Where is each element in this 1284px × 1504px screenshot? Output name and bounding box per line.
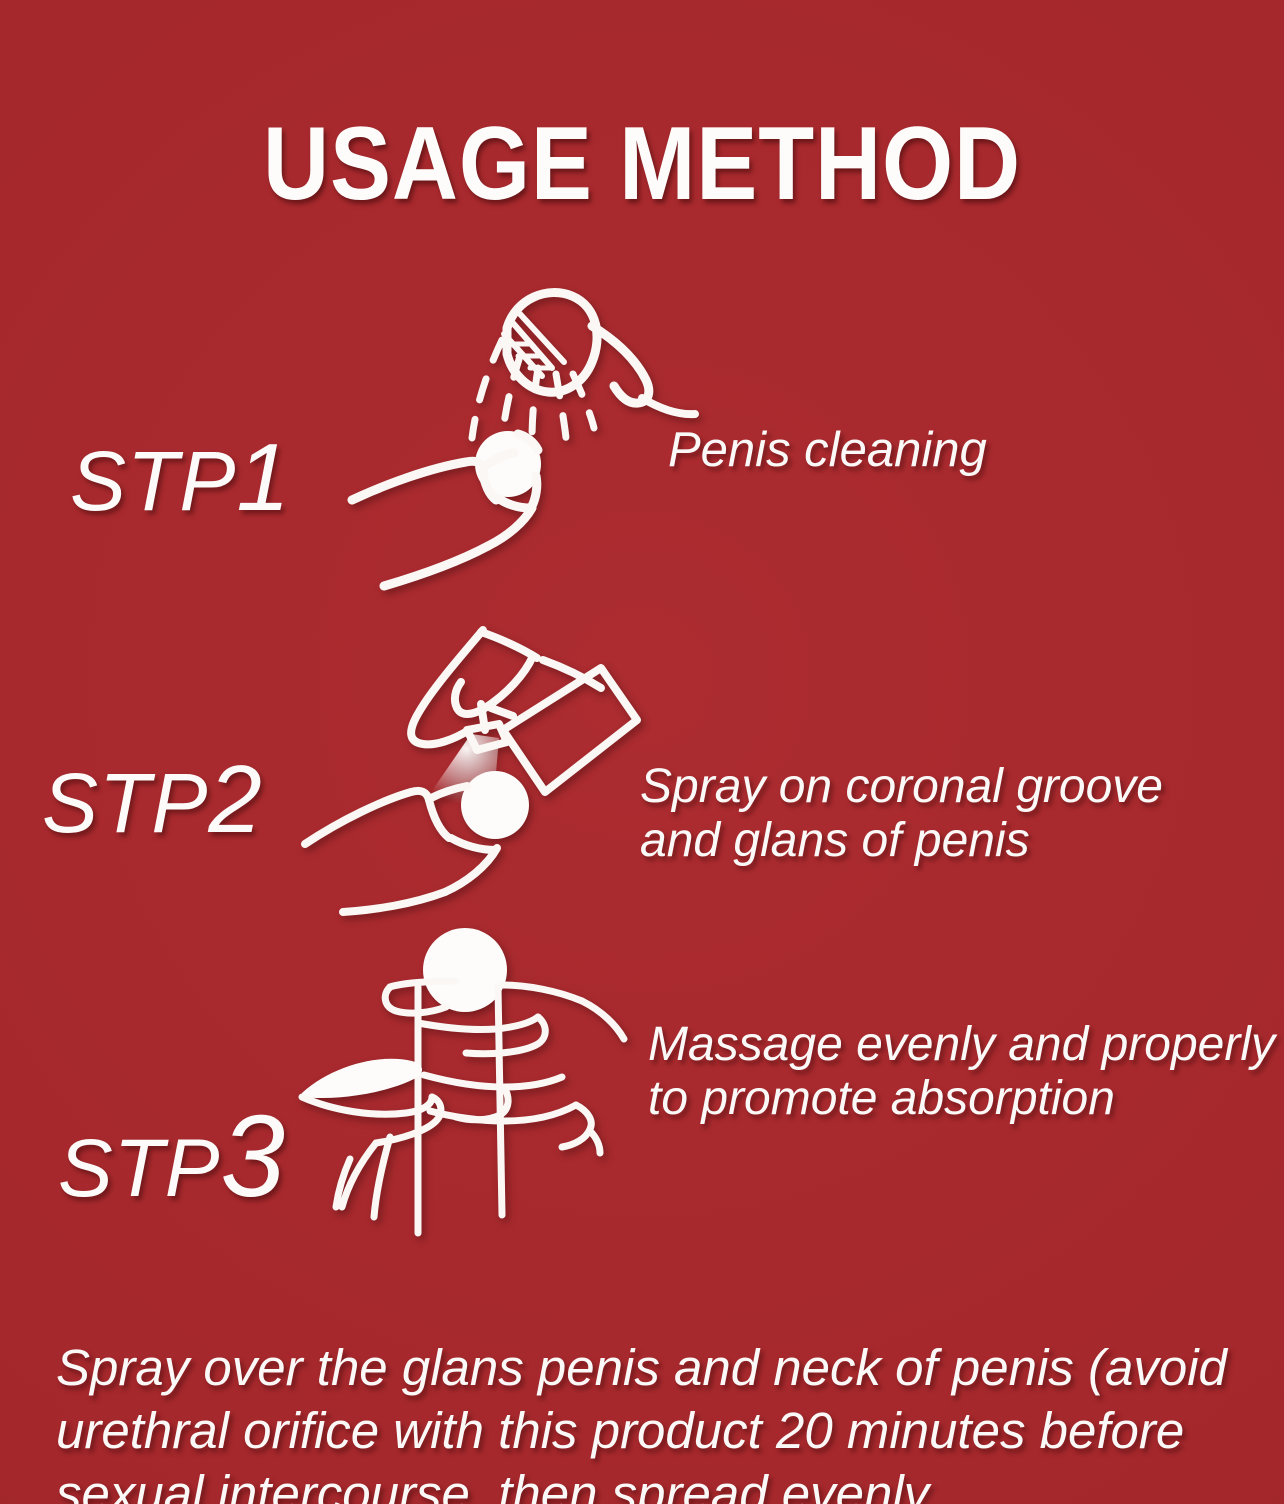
step-3-label: STP3 [58,1098,285,1214]
hand-outline [352,434,538,586]
step-1-caption: Penis cleaning [668,423,987,478]
step-3-label-number: 3 [220,1091,285,1221]
step-3-label-word: STP [58,1123,220,1214]
glans-circle [461,771,529,839]
page-title: USAGE METHOD [77,112,1207,216]
step-1-label-word: STP [70,434,236,528]
step-2-label-number: 2 [208,746,261,853]
thumb-shape [302,1059,422,1098]
step-3-illustration [290,915,690,1245]
step-2-illustration [285,612,685,912]
showerhead-icon [504,293,695,415]
step-2-label-word: STP [42,756,208,850]
usage-method-poster: USAGE METHOD STP1 [0,0,1284,1504]
footnote-paragraph: Spray over the glans penis and neck of p… [56,1336,1236,1504]
step-2-caption: Spray on coronal groove and glans of pen… [640,760,1163,868]
step-1-label: STP1 [70,430,290,526]
hand-outline [302,981,624,1217]
step-1-illustration [280,270,710,600]
glans-circle [423,928,507,1012]
step-3-caption: Massage evenly and properly to promote a… [648,1018,1275,1126]
step-2-label: STP2 [42,752,262,848]
